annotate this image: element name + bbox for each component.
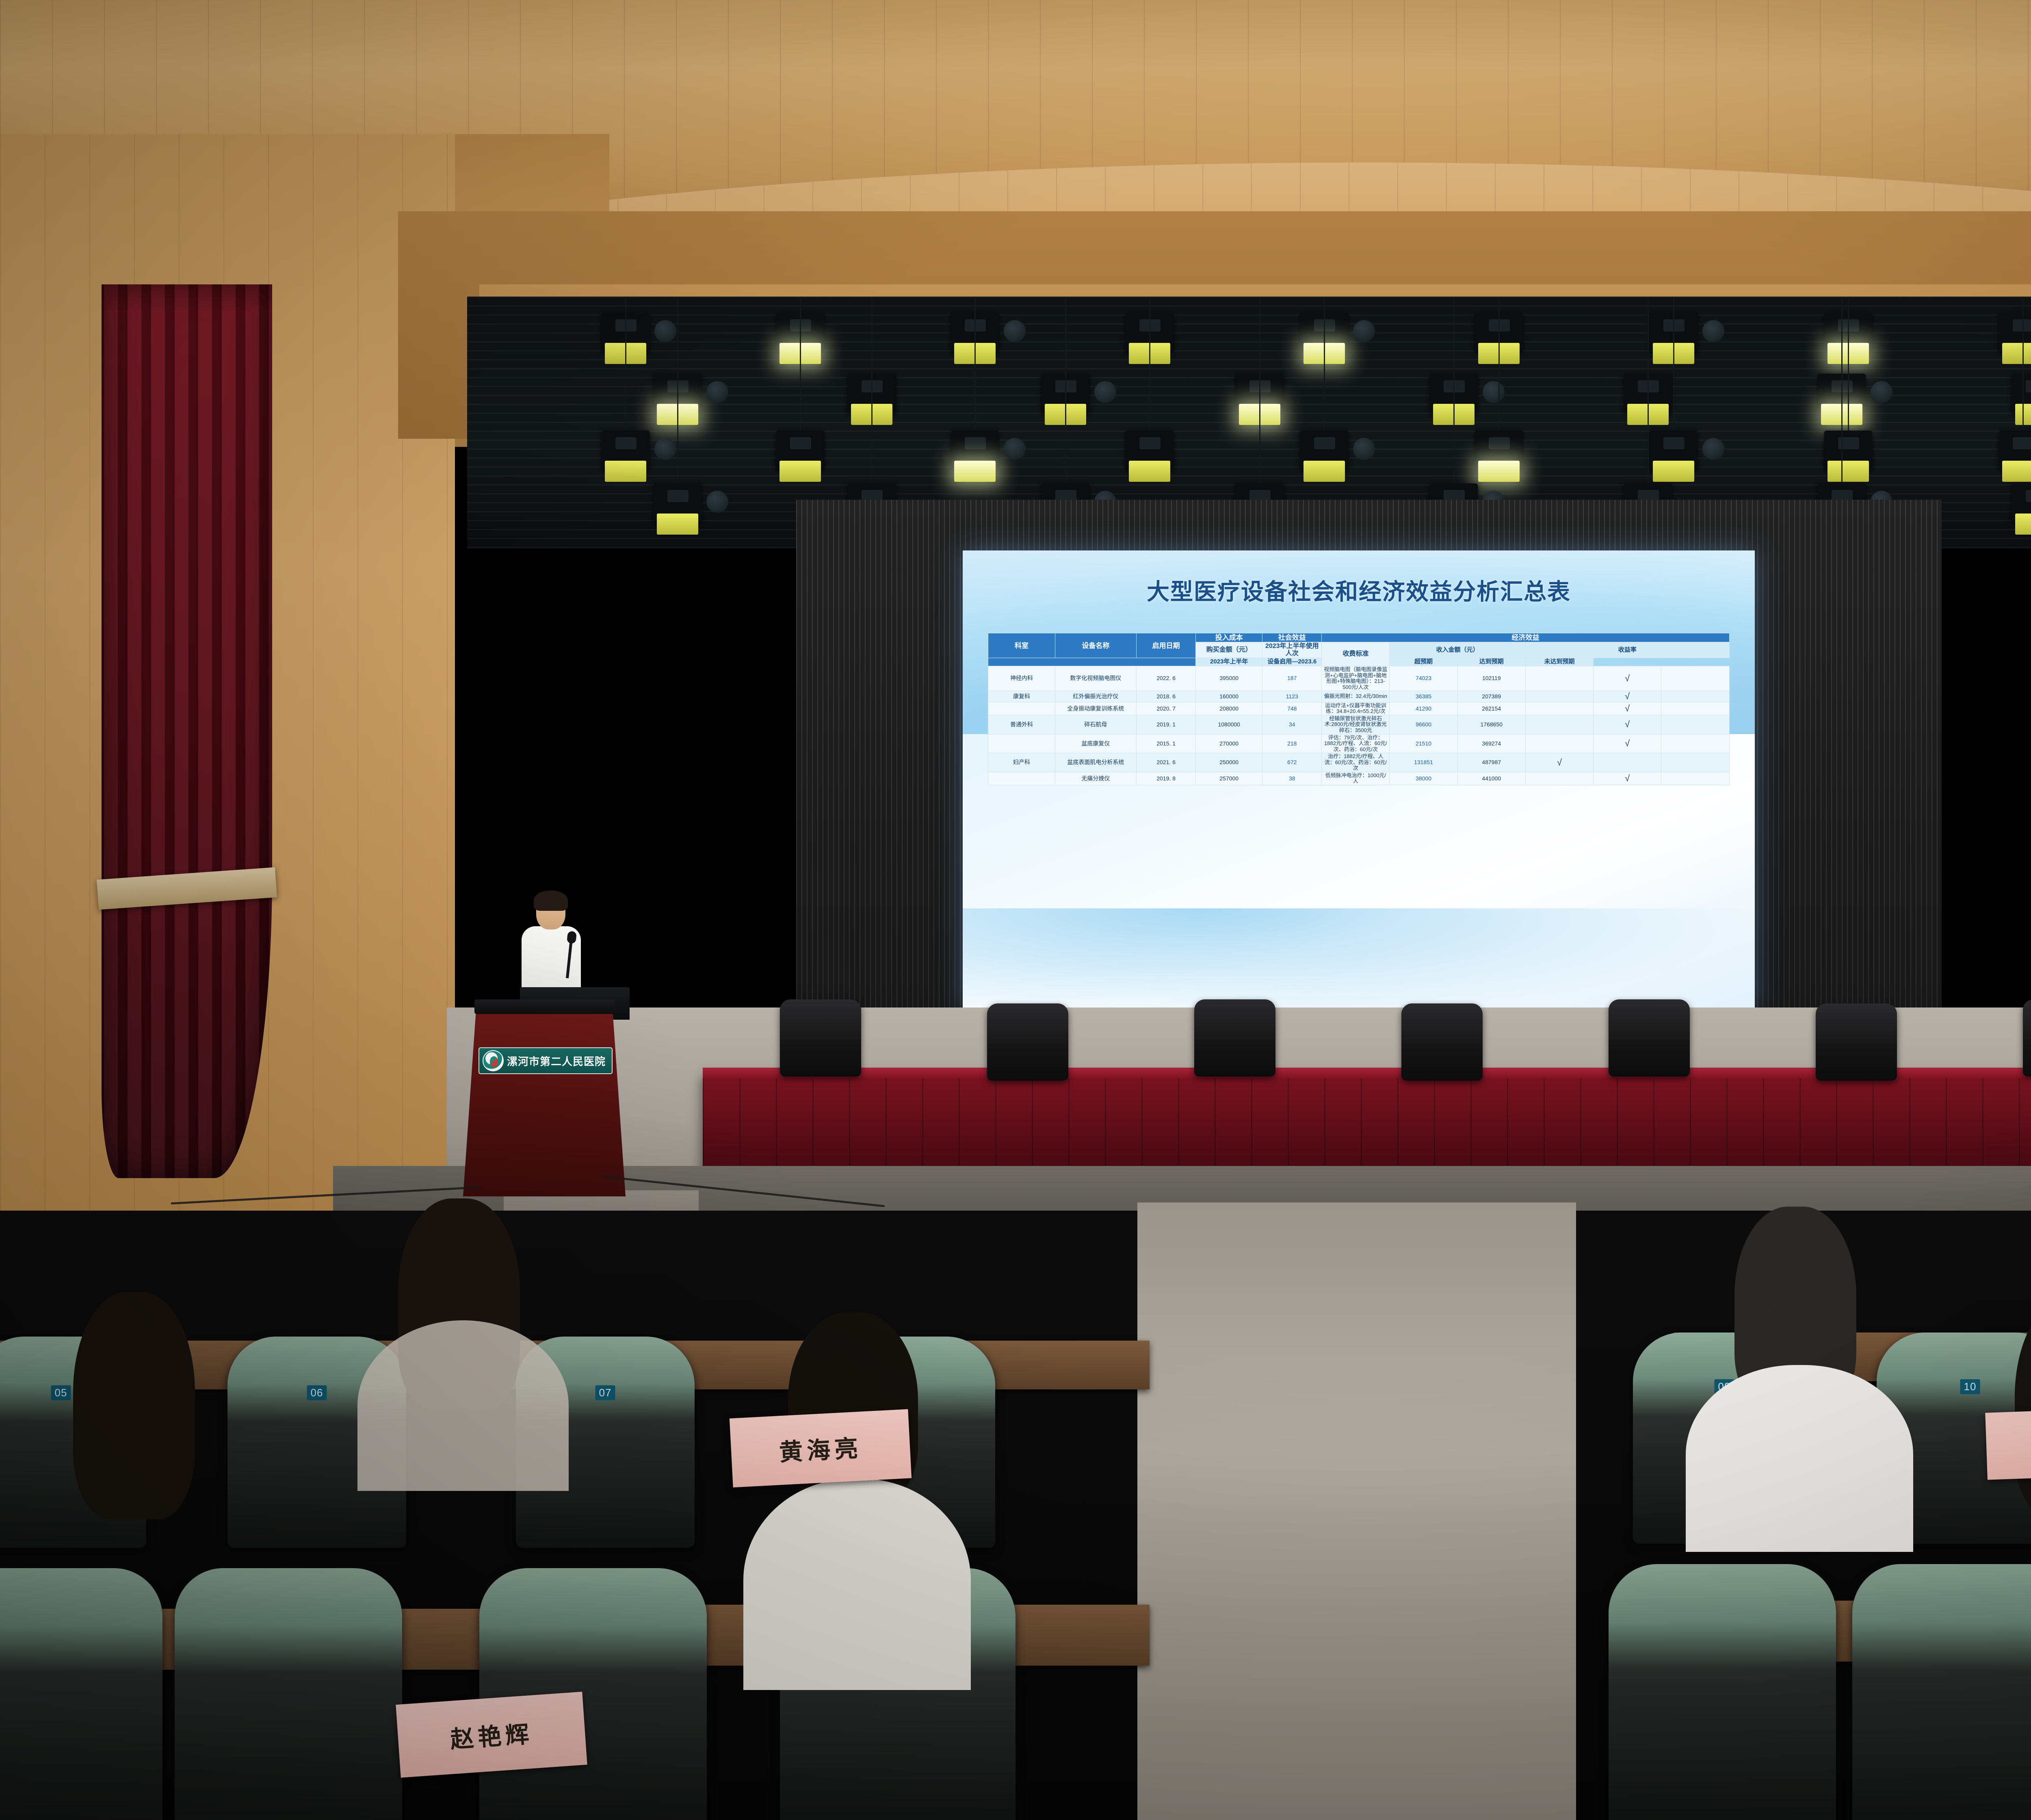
cell-income-since: 102119 [1457, 666, 1525, 691]
cell-income-since: 262154 [1457, 702, 1525, 715]
cell-equipment: 红外偏振光治疗仪 [1055, 691, 1137, 702]
hospital-name-sign: 漯河市第二人民医院 [479, 1047, 613, 1074]
table-row: 无痛分娩仪2019. 825700038低频脉冲电治疗：1000元/人38000… [988, 772, 1729, 785]
light-hanging-rod [1149, 297, 1150, 435]
cell-usage: 218 [1262, 734, 1322, 753]
col-usage-count: 2023年上半年使用人次 [1262, 642, 1322, 658]
cell-start-date: 2020. 7 [1137, 702, 1196, 715]
hospital-heart-logo-icon [483, 1050, 504, 1071]
cell-fee-standard: 偏振光照射：32.4元/30min [1322, 691, 1390, 702]
audience-seat[interactable] [479, 1568, 707, 1820]
light-barn-door [2015, 513, 2031, 535]
table-body: 神经内科数字化视频脑电图仪2022. 6395000187视频脑电图（脑电图录像… [988, 666, 1729, 785]
truss-spotlight [1353, 320, 1375, 342]
truss-spotlight [1483, 381, 1505, 403]
light-lens-icon [1663, 437, 1685, 449]
stage-curtain-left [102, 284, 272, 1178]
seat-number-badge: 10 [1960, 1379, 1980, 1394]
cell-rate-under [1661, 772, 1729, 785]
cell-rate-met: √ [1594, 666, 1661, 691]
conference-chair [1194, 999, 1275, 1077]
light-lens-icon [2013, 319, 2031, 331]
cell-rate-met: √ [1594, 702, 1661, 715]
truss-spotlight [1353, 438, 1375, 460]
attendee-shoulders [1686, 1365, 1913, 1552]
audience-seat[interactable] [175, 1568, 402, 1820]
cell-rate-under [1661, 753, 1729, 772]
light-hanging-rod [800, 297, 801, 435]
cell-income-h1: 21510 [1390, 734, 1457, 753]
cell-start-date: 2019. 8 [1137, 772, 1196, 785]
light-barn-door [1303, 461, 1345, 482]
truss-spotlight [706, 491, 728, 513]
attendee-name-card: 刘 桥 [1985, 1406, 2031, 1480]
light-barn-door [657, 513, 698, 535]
cell-usage: 1123 [1262, 691, 1322, 702]
audience-seat[interactable] [1609, 1564, 1836, 1820]
cell-dept [988, 702, 1055, 715]
truss-spotlight [1871, 381, 1892, 403]
stage-light-fixture [1475, 431, 1523, 470]
cell-equipment: 无痛分娩仪 [1055, 772, 1137, 785]
attendee-name-card: 黄海亮 [730, 1409, 912, 1488]
light-barn-door [1129, 461, 1170, 482]
conference-chair [987, 1003, 1068, 1081]
light-hanging-rod [974, 297, 976, 435]
table-group-header-row: 科室 设备名称 启用日期 投入成本 社会效益 经济效益 [988, 633, 1729, 642]
light-hanging-rod [677, 297, 678, 487]
seat-number-badge: 06 [307, 1385, 327, 1400]
cell-equipment: 盆底康复仪 [1055, 734, 1137, 753]
presenter-hair [534, 890, 568, 911]
cell-rate-over [1525, 715, 1593, 734]
conference-chair [1609, 999, 1690, 1077]
table-row: 盆底康复仪2015. 1270000218评估：79元/次、治疗：1882元/疗… [988, 734, 1729, 753]
cell-income-h1: 41290 [1390, 702, 1457, 715]
light-barn-door [605, 461, 646, 482]
conference-chair [1401, 1003, 1483, 1081]
col-income-since: 设备启用—2023.6 [1262, 658, 1322, 666]
cell-rate-over [1525, 702, 1593, 715]
col-equipment: 设备名称 [1055, 633, 1137, 658]
cell-purchase: 270000 [1196, 734, 1262, 753]
table-row: 普通外科碎石航母2019. 1108000034经输尿管钬状激光碎石术:2800… [988, 715, 1729, 734]
cell-rate-met: √ [1594, 734, 1661, 753]
light-hanging-rod [1453, 297, 1455, 487]
light-lens-icon [1314, 437, 1335, 449]
light-hanging-rod [871, 297, 873, 487]
cell-start-date: 2022. 6 [1137, 666, 1196, 691]
table-row: 全身振动康复训练系统2020. 7208000748运动疗法+仪器平衡功能训练：… [988, 702, 1729, 715]
light-hanging-rod [2022, 297, 2024, 435]
cell-equipment: 全身振动康复训练系统 [1055, 702, 1137, 715]
truss-spotlight [1094, 381, 1116, 403]
group-social: 社会效益 [1262, 633, 1322, 642]
audience-seat[interactable] [0, 1568, 162, 1820]
stage-light-fixture [1650, 431, 1698, 470]
light-lens-icon [1489, 437, 1510, 449]
group-rate: 收益率 [1525, 642, 1729, 658]
light-barn-door [2002, 461, 2031, 482]
light-lens-icon [1139, 437, 1161, 449]
cell-fee-standard: 治疗：1882元/疗程、人流：60元/次、药浴：60元/次 [1322, 753, 1390, 772]
truss-spotlight [1702, 320, 1724, 342]
cell-rate-under [1661, 666, 1729, 691]
cell-rate-over [1525, 734, 1593, 753]
truss-spotlight [654, 320, 676, 342]
light-hanging-rod [625, 297, 626, 435]
presentation-slide: 大型医疗设备社会和经济效益分析汇总表 科室 设备名称 启用日期 投入成本 社会效… [963, 550, 1755, 1010]
light-lens-icon [2026, 380, 2031, 392]
cell-income-since: 441000 [1457, 772, 1525, 785]
col-rate-over: 超预期 [1390, 658, 1457, 666]
cell-dept: 普通外科 [988, 715, 1055, 734]
cell-rate-under [1661, 691, 1729, 702]
cell-usage: 672 [1262, 753, 1322, 772]
cell-income-h1: 36385 [1390, 691, 1457, 702]
light-lens-icon [790, 437, 811, 449]
cell-rate-under [1661, 734, 1729, 753]
cell-rate-met [1594, 753, 1661, 772]
attendee-name-card: 赵艳辉 [396, 1692, 587, 1778]
table-row: 神经内科数字化视频脑电图仪2022. 6395000187视频脑电图（脑电图录像… [988, 666, 1729, 691]
stage-light-fixture [1300, 431, 1348, 470]
conference-chair [2023, 999, 2031, 1077]
cell-income-h1: 131851 [1390, 753, 1457, 772]
cell-purchase: 1080000 [1196, 715, 1262, 734]
light-barn-door [1478, 461, 1520, 482]
stage-light-fixture [951, 431, 999, 470]
slide-title: 大型医疗设备社会和经济效益分析汇总表 [963, 574, 1755, 607]
cell-dept: 妇产科 [988, 753, 1055, 772]
slide-wave-decoration-bottom [963, 908, 1755, 1010]
cell-rate-over: √ [1525, 753, 1593, 772]
cell-income-h1: 38000 [1390, 772, 1457, 785]
light-hanging-rod [1648, 297, 1649, 487]
cell-start-date: 2015. 1 [1137, 734, 1196, 753]
col-rate-under: 未达到预期 [1525, 658, 1593, 666]
equipment-benefit-table: 科室 设备名称 启用日期 投入成本 社会效益 经济效益 购买金额（元） 2023… [988, 633, 1729, 785]
cell-fee-standard: 经输尿管钬状激光碎石术:2800元/经皮肾钬状激光碎石：3500元 [1322, 715, 1390, 734]
cell-fee-standard: 视频脑电图（脑电图录像监测+心电监护+脑电图+脑地形图+特殊脑电图）：213-5… [1322, 666, 1390, 691]
light-lens-icon [2026, 490, 2031, 502]
cell-rate-under [1661, 715, 1729, 734]
group-income: 收入金额（元） [1390, 642, 1525, 658]
light-barn-door [954, 461, 996, 482]
cell-fee-standard: 评估：79元/次、治疗：1882元/疗程、人流：60元/次、药浴：60元/次 [1322, 734, 1390, 753]
cell-income-since: 487987 [1457, 753, 1525, 772]
cell-usage: 34 [1262, 715, 1322, 734]
light-hanging-rod [1498, 297, 1500, 435]
cell-income-h1: 74023 [1390, 666, 1457, 691]
cell-rate-met: √ [1594, 772, 1661, 785]
attendee-head [73, 1292, 195, 1519]
light-hanging-rod [1065, 297, 1066, 487]
cell-usage: 187 [1262, 666, 1322, 691]
center-aisle [1137, 1202, 1576, 1820]
col-start-date: 启用日期 [1137, 633, 1196, 658]
truss-spotlight [654, 438, 676, 460]
light-hanging-rod [1841, 297, 1843, 487]
cell-dept [988, 734, 1055, 753]
stage-light-fixture [602, 431, 650, 470]
light-hanging-rod [1673, 297, 1674, 435]
stage-light-fixture [654, 483, 702, 522]
light-barn-door [1827, 461, 1869, 482]
light-lens-icon [2013, 437, 2031, 449]
col-dept: 科室 [988, 633, 1055, 658]
col-purchase-amount: 购买金额（元） [1196, 642, 1262, 658]
cell-fee-standard: 运动疗法+仪器平衡功能训练：34.8+20.4=55.2元/次 [1322, 702, 1390, 715]
cell-rate-over [1525, 691, 1593, 702]
truss-spotlight [1702, 438, 1724, 460]
cell-start-date: 2021. 6 [1137, 753, 1196, 772]
group-economic: 经济效益 [1322, 633, 1729, 642]
light-hanging-rod [1848, 297, 1849, 435]
group-cost: 投入成本 [1196, 633, 1262, 642]
cell-dept: 神经内科 [988, 666, 1055, 691]
cell-income-since: 369274 [1457, 734, 1525, 753]
projection-screen: 大型医疗设备社会和经济效益分析汇总表 科室 设备名称 启用日期 投入成本 社会效… [963, 550, 1755, 1010]
light-lens-icon [965, 437, 986, 449]
light-lens-icon [667, 490, 689, 502]
cell-rate-met: √ [1594, 691, 1661, 702]
table-row: 康复科红外偏振光治疗仪2018. 61600001123偏振光照射：32.4元/… [988, 691, 1729, 702]
cell-purchase: 395000 [1196, 666, 1262, 691]
truss-spotlight [1004, 320, 1026, 342]
seat-number-badge: 07 [595, 1385, 615, 1400]
light-hanging-rod [1259, 297, 1260, 487]
stage-light-fixture [1126, 431, 1174, 470]
stage-light-fixture [1824, 431, 1872, 470]
cell-usage: 748 [1262, 702, 1322, 715]
cell-purchase: 250000 [1196, 753, 1262, 772]
hospital-name-text: 漯河市第二人民医院 [507, 1053, 606, 1068]
col-rate-met: 达到预期 [1457, 658, 1525, 666]
conference-chair [780, 999, 861, 1077]
light-hanging-rod [1324, 297, 1325, 435]
cell-rate-over [1525, 772, 1593, 785]
cell-income-h1: 96600 [1390, 715, 1457, 734]
cell-start-date: 2018. 6 [1137, 691, 1196, 702]
light-barn-door [779, 461, 821, 482]
cell-equipment: 数字化视频脑电图仪 [1055, 666, 1137, 691]
auditorium-scene: 大型医疗设备社会和经济效益分析汇总表 科室 设备名称 启用日期 投入成本 社会效… [0, 0, 2031, 1820]
stage-light-fixture [2012, 374, 2031, 413]
cell-equipment: 碎石航母 [1055, 715, 1137, 734]
cell-purchase: 257000 [1196, 772, 1262, 785]
cell-start-date: 2019. 1 [1137, 715, 1196, 734]
attendee-shoulders [743, 1479, 971, 1690]
cell-purchase: 208000 [1196, 702, 1262, 715]
curtain-tieback-left [97, 867, 277, 910]
cell-dept: 康复科 [988, 691, 1055, 702]
col-income-h1: 2023年上半年 [1196, 658, 1262, 666]
stage-light-fixture [1999, 313, 2031, 352]
table-row: 妇产科盆底表面肌电分析系统2021. 6250000672治疗：1882元/疗程… [988, 753, 1729, 772]
audience-seat[interactable] [1852, 1564, 2031, 1820]
light-lens-icon [615, 437, 637, 449]
col-fee-standard: 收费标准 [1322, 642, 1390, 666]
lectern-top [474, 999, 615, 1014]
stage-light-fixture [2012, 483, 2031, 522]
cell-fee-standard: 低频脉冲电治疗：1000元/人 [1322, 772, 1390, 785]
cell-income-since: 1768650 [1457, 715, 1525, 734]
lectern [463, 1010, 626, 1196]
cell-income-since: 207389 [1457, 691, 1525, 702]
light-barn-door [1653, 461, 1694, 482]
truss-spotlight [706, 381, 728, 403]
light-barn-door [2002, 343, 2031, 364]
stage-light-fixture [1999, 431, 2031, 470]
stage-light-fixture [776, 431, 824, 470]
cell-equipment: 盆底表面肌电分析系统 [1055, 753, 1137, 772]
conference-chair [1816, 1003, 1897, 1081]
cell-purchase: 160000 [1196, 691, 1262, 702]
seat-number-badge: 05 [51, 1385, 71, 1400]
cell-dept [988, 772, 1055, 785]
truss-spotlight [1004, 438, 1026, 460]
cell-rate-met: √ [1594, 715, 1661, 734]
cell-rate-under [1661, 702, 1729, 715]
cell-usage: 38 [1262, 772, 1322, 785]
attendee-shoulders [357, 1320, 569, 1491]
cell-rate-over [1525, 666, 1593, 691]
